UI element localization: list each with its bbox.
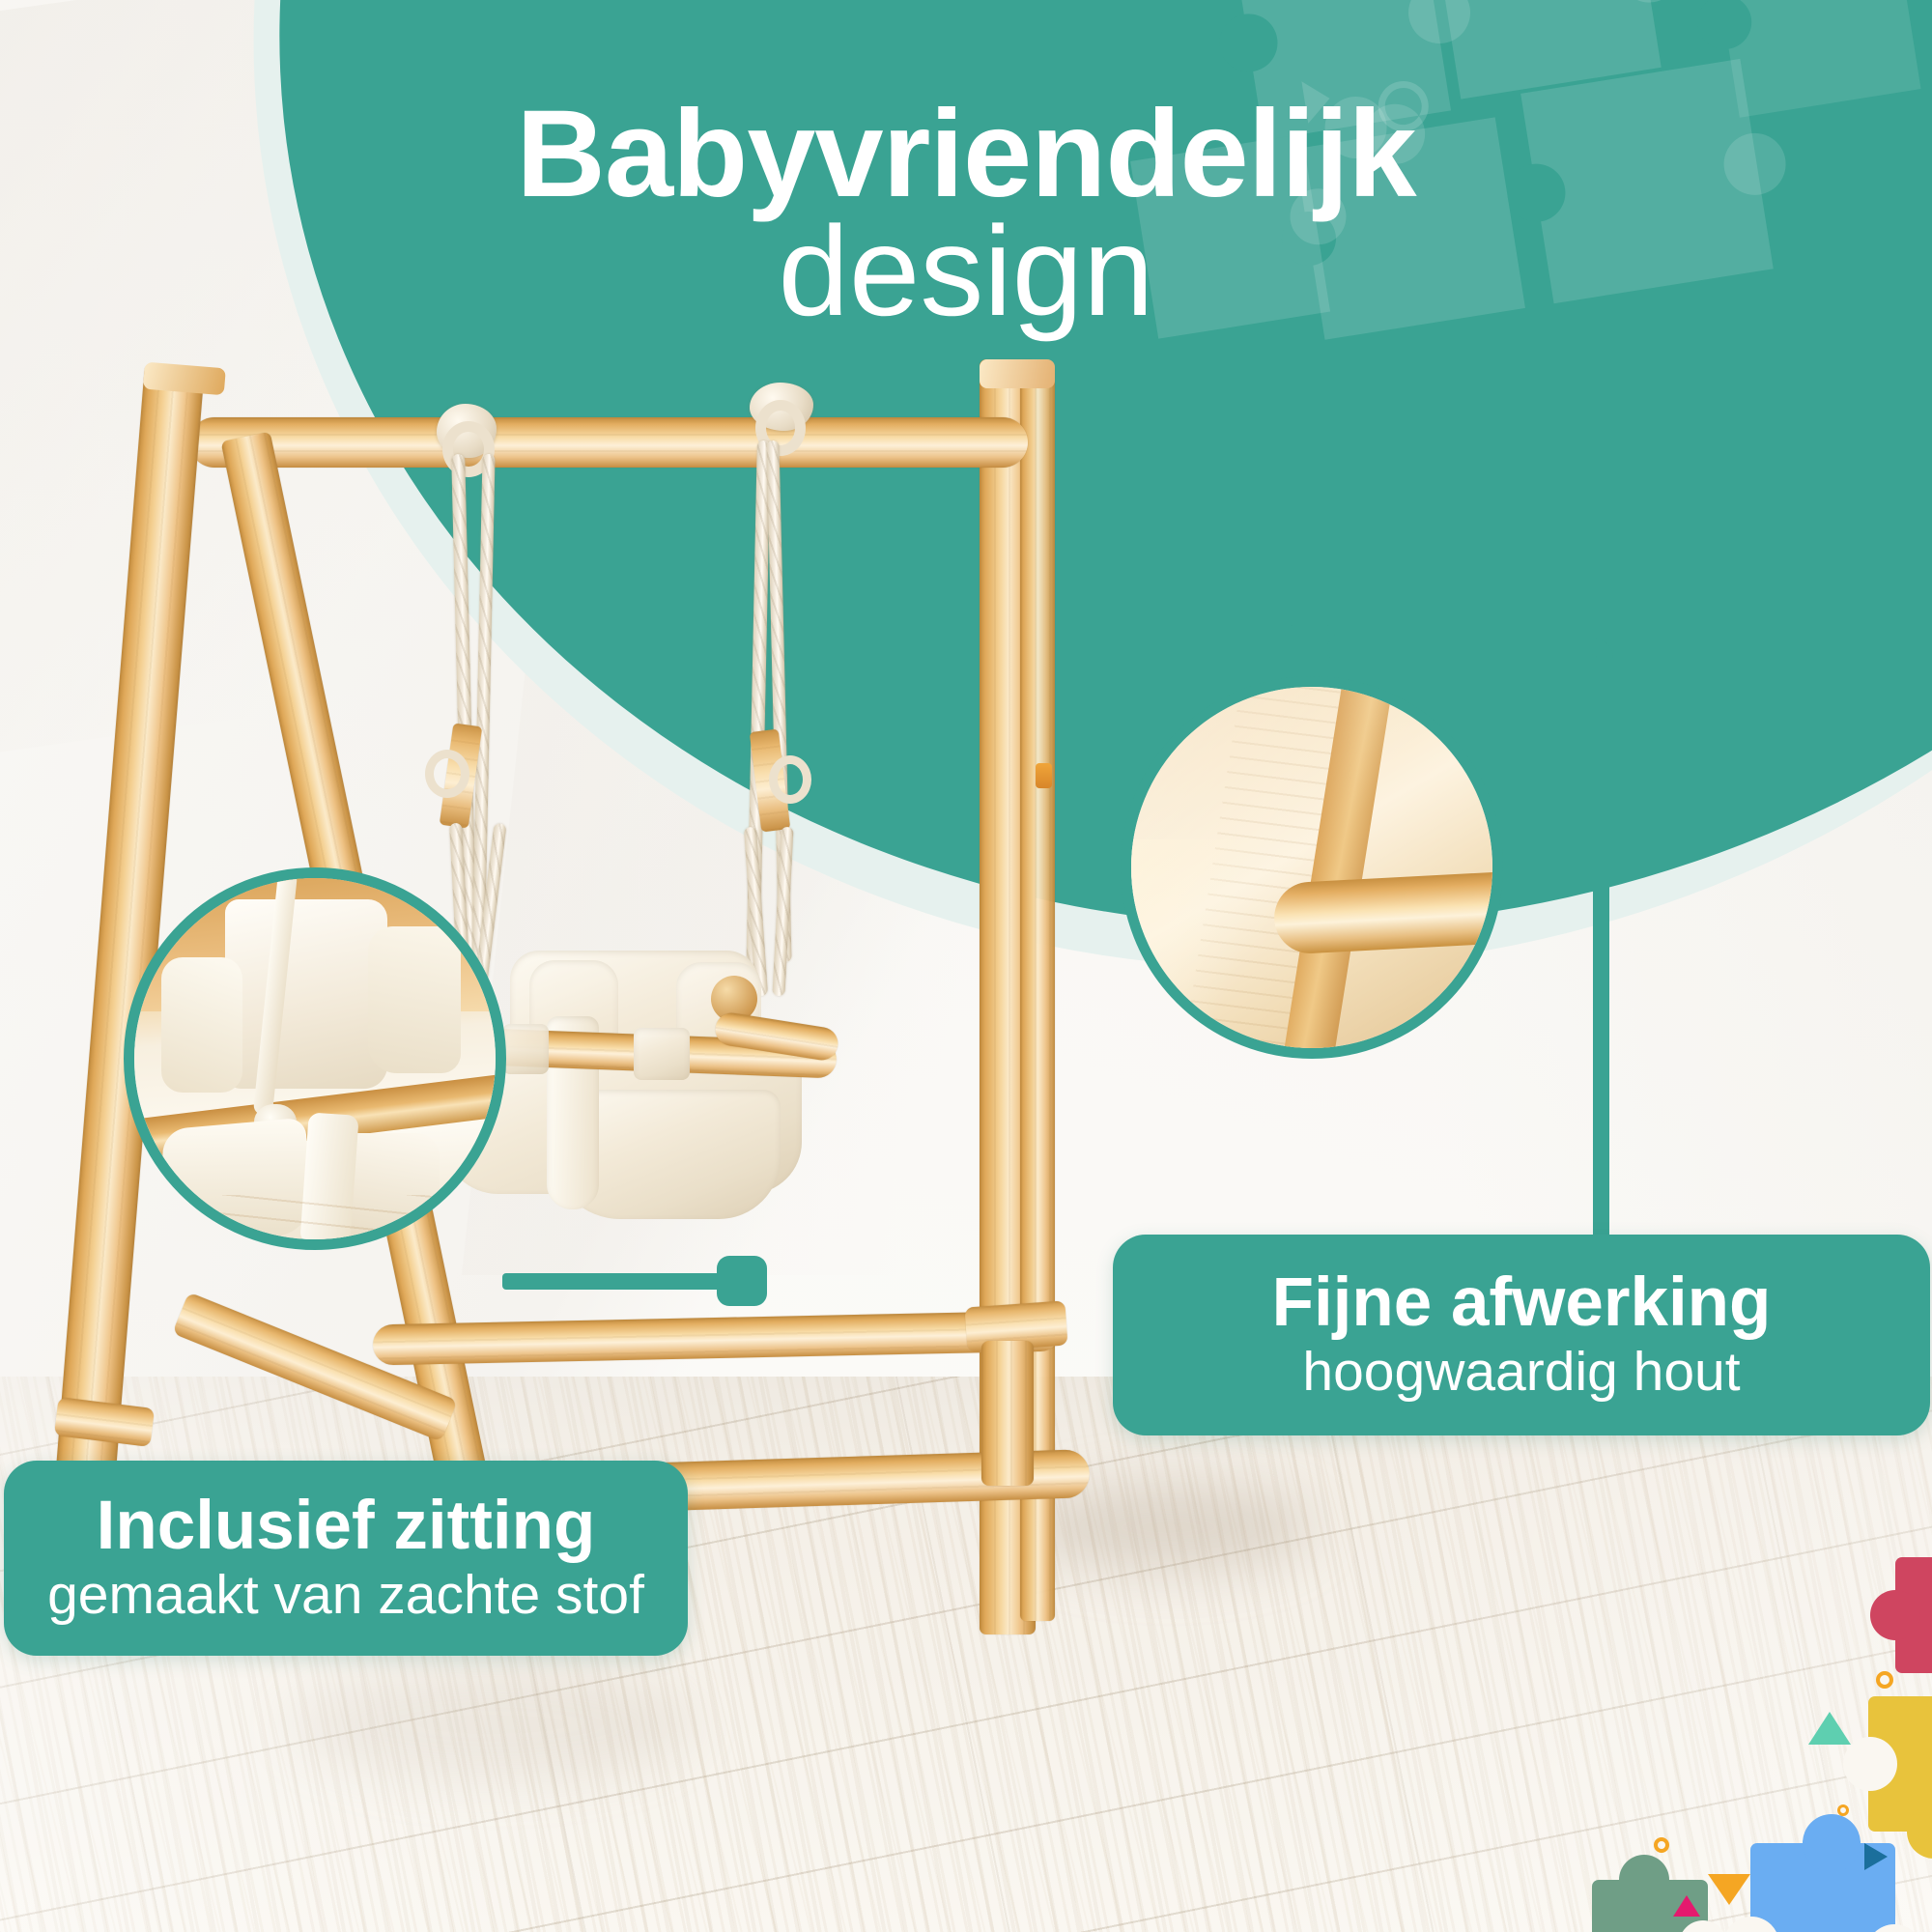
- crimson-puzzle-piece: [1895, 1557, 1932, 1673]
- top-rail: [189, 417, 1028, 468]
- callout-circle-seat[interactable]: [124, 867, 506, 1250]
- yellow-puzzle-piece: [1868, 1696, 1932, 1832]
- base-rear-rail: [373, 1311, 1062, 1366]
- callout-photo-wood-joint-closeup: [1129, 685, 1494, 1050]
- dowel-fabric-sleeve: [634, 1028, 690, 1080]
- callout-label-seat[interactable]: Inclusief zitting gemaakt van zachte sto…: [4, 1461, 688, 1656]
- callout-photo-seat-closeup: [132, 876, 497, 1241]
- callout-label-title: Fijne afwerking: [1272, 1268, 1772, 1338]
- callout-connector-corner-finish: [1573, 638, 1613, 678]
- orange-circle-outline: [1876, 1671, 1893, 1689]
- magenta-triangle: [1673, 1895, 1700, 1917]
- callout-connector-line-seat: [502, 1273, 742, 1290]
- callout-connector-line-finish-v: [1593, 641, 1609, 1240]
- callout-connector-line-finish-h: [1327, 641, 1609, 658]
- callout-label-title: Inclusief zitting: [97, 1492, 596, 1561]
- product-feature-graphic: Babyvriendelijk design: [0, 0, 1932, 1932]
- navy-triangle: [1864, 1843, 1888, 1870]
- callout-circle-finish[interactable]: [1121, 676, 1503, 1059]
- post-peg: [1036, 763, 1052, 788]
- orange-circle-outline: [1837, 1804, 1849, 1816]
- right-post-cap: [980, 359, 1055, 388]
- rope-loop-left-toggle: [425, 750, 469, 798]
- callout-label-subtitle: gemaakt van zachte stof: [47, 1567, 644, 1625]
- callout-label-subtitle: hoogwaardig hout: [1302, 1344, 1740, 1402]
- orange-circle-outline: [1654, 1837, 1669, 1853]
- dowel-fabric-sleeve: [502, 1024, 549, 1074]
- callout-marker-seat: [717, 1256, 767, 1306]
- callout-label-finish[interactable]: Fijne afwerking hoogwaardig hout: [1113, 1235, 1930, 1435]
- orange-triangle: [1708, 1874, 1750, 1905]
- right-foot-post: [981, 1341, 1034, 1486]
- rope-loop-right-toggle: [769, 755, 811, 804]
- teal-triangle: [1808, 1712, 1851, 1745]
